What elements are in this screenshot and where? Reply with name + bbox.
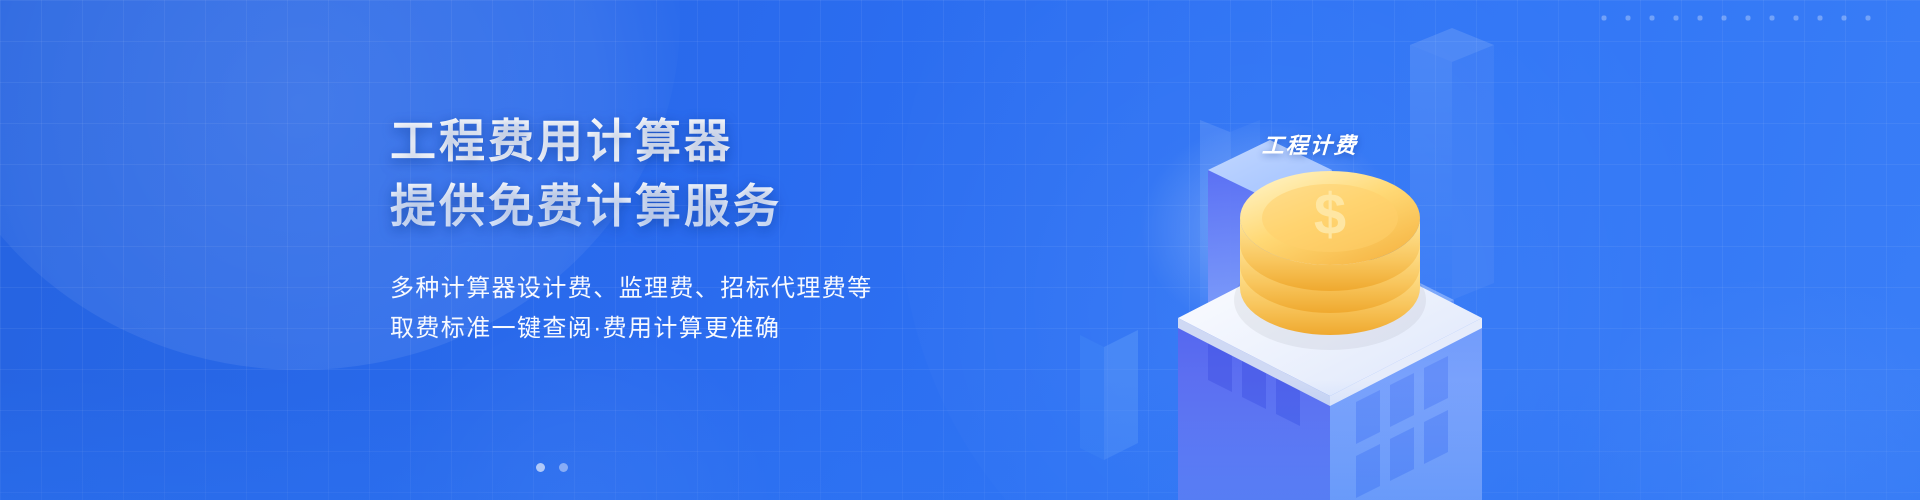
subtitle-line-2: 取费标准一键查阅·费用计算更准确 [390,309,1010,349]
dot-matrix-pattern [1592,6,1882,38]
subtitle-line-1: 多种计算器设计费、监理费、招标代理费等 [390,269,1010,309]
gold-coin-stack: $ [1234,171,1426,350]
banner-copy: 工程费用计算器 提供免费计算服务 多种计算器设计费、监理费、招标代理费等 取费标… [390,112,1010,349]
carousel-dot-1[interactable] [536,463,545,472]
bottom-gradient-fade [0,380,1920,500]
headline-line-1: 工程费用计算器 [390,112,1010,170]
page-title: 工程费用计算器 提供免费计算服务 [390,112,1010,235]
carousel-pagination[interactable] [536,463,568,472]
banner-subtitle: 多种计算器设计费、监理费、招标代理费等 取费标准一键查阅·费用计算更准确 [390,269,1010,349]
dollar-icon: $ [1314,182,1346,247]
headline-line-2: 提供免费计算服务 [390,177,1010,235]
illustration-tag-label: 工程计费 [1261,128,1358,160]
carousel-dot-2[interactable] [559,463,568,472]
promo-banner: 工程费用计算器 提供免费计算服务 多种计算器设计费、监理费、招标代理费等 取费标… [0,0,1920,500]
